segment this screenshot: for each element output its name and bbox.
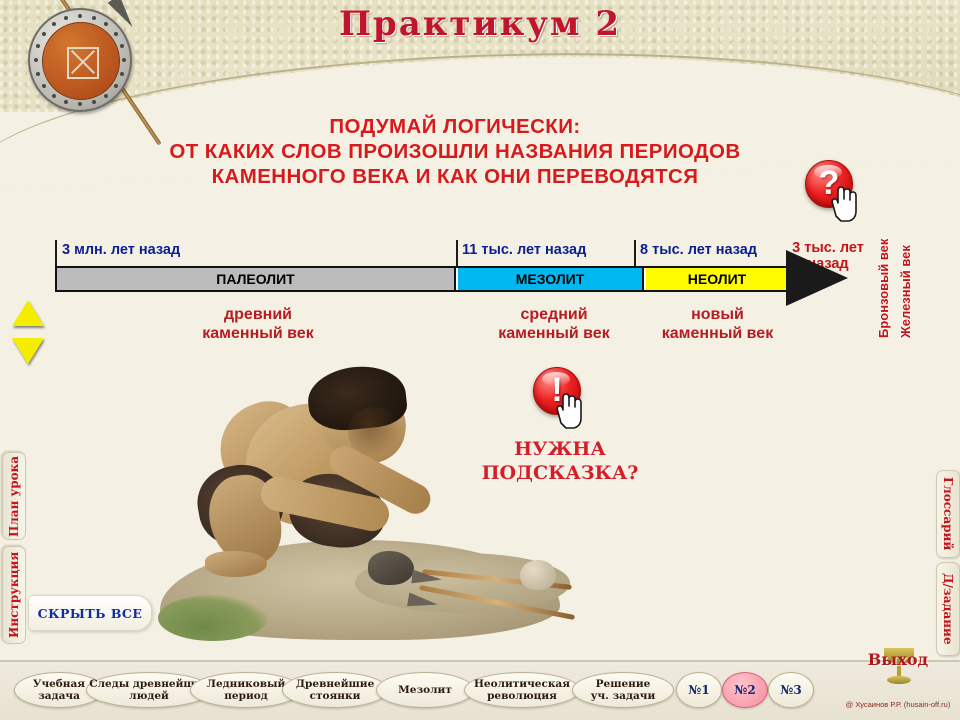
figure-foot bbox=[205, 551, 267, 577]
age-label-bronze: Бронзовый век bbox=[876, 228, 891, 338]
goblet-base bbox=[887, 676, 911, 684]
timeline-mark-2: 8 тыс. лет назад bbox=[640, 242, 757, 258]
nav-item-5-line2: революция bbox=[487, 690, 557, 702]
sidebar-tab-homework[interactable]: Д/задание bbox=[936, 562, 960, 656]
nav-item-0-line1: Учебная bbox=[33, 678, 85, 690]
nav-item-2-line1: Ледниковый bbox=[207, 678, 286, 690]
timeline-arrow-icon bbox=[786, 250, 848, 306]
nav-number-1[interactable]: №1 bbox=[676, 672, 722, 708]
sidebar-tab-instruction[interactable]: Инструкция bbox=[2, 546, 26, 644]
scroll-up-arrow[interactable] bbox=[12, 300, 44, 326]
hint-label: НУЖНА ПОДСКАЗКА? bbox=[455, 437, 665, 485]
timeline-mark-1: 11 тыс. лет назад bbox=[462, 242, 586, 258]
tick-0 bbox=[55, 240, 57, 266]
help-question-button[interactable]: ? bbox=[805, 160, 853, 208]
nav-item-5[interactable]: Неолитическая революция bbox=[464, 672, 580, 708]
translation-neolit-line1: новый bbox=[640, 305, 795, 324]
nav-item-4[interactable]: Мезолит bbox=[376, 672, 474, 708]
prehistoric-man-illustration bbox=[150, 355, 570, 655]
slide-canvas: Практикум 2 ПОДУМАЙ ЛОГИЧЕСКИ: ОТ КАКИХ … bbox=[0, 0, 960, 720]
hint-button[interactable]: ! bbox=[533, 367, 581, 415]
timeline-mark-0: 3 млн. лет назад bbox=[62, 242, 180, 258]
nav-item-5-line1: Неолитическая bbox=[474, 678, 570, 690]
nav-item-1-line2: людей bbox=[129, 690, 169, 702]
hint-line-1: НУЖНА bbox=[455, 437, 665, 461]
timeline-bar: ПАЛЕОЛИТ МЕЗОЛИТ НЕОЛИТ bbox=[55, 266, 788, 292]
tick-1 bbox=[456, 240, 458, 266]
question-line-1: ПОДУМАЙ ЛОГИЧЕСКИ: bbox=[60, 114, 850, 139]
tick-2 bbox=[634, 240, 636, 266]
shield-and-spear-decoration bbox=[8, 0, 178, 126]
nav-item-3-line1: Древнейшие bbox=[296, 678, 375, 690]
exclamation-icon: ! bbox=[534, 366, 580, 414]
question-line-2: ОТ КАКИХ СЛОВ ПРОИЗОШЛИ НАЗВАНИЯ ПЕРИОДО… bbox=[60, 139, 850, 164]
question-heading: ПОДУМАЙ ЛОГИЧЕСКИ: ОТ КАКИХ СЛОВ ПРОИЗОШ… bbox=[60, 114, 850, 189]
nav-item-6-line1: Решение bbox=[596, 678, 651, 690]
hint-line-2: ПОДСКАЗКА? bbox=[455, 461, 665, 485]
nav-item-4-line1: Мезолит bbox=[398, 684, 452, 696]
timeline-segment-paleolit[interactable]: ПАЛЕОЛИТ bbox=[57, 268, 456, 290]
spear-point-1 bbox=[411, 569, 442, 586]
timeline-segment-mezolit[interactable]: МЕЗОЛИТ bbox=[458, 268, 644, 290]
nav-item-0-line2: задача bbox=[38, 690, 80, 702]
question-line-3: КАМЕННОГО ВЕКА И КАК ОНИ ПЕРЕВОДЯТСЯ bbox=[60, 164, 850, 189]
exit-button[interactable]: Выход bbox=[852, 650, 944, 669]
hide-all-button[interactable]: СКРЫТЬ ВСЕ bbox=[28, 595, 152, 631]
translation-mezolit-line2: каменный век bbox=[474, 324, 634, 343]
age-label-iron: Железный век bbox=[898, 228, 913, 338]
skull-object bbox=[520, 560, 556, 590]
question-mark-icon: ? bbox=[806, 159, 852, 207]
nav-item-3[interactable]: Древнейшие стоянки bbox=[282, 672, 388, 708]
scroll-down-arrow[interactable] bbox=[12, 338, 44, 364]
nav-item-6[interactable]: Решение уч. задачи bbox=[572, 672, 674, 708]
sidebar-tab-glossary[interactable]: Глоссарий bbox=[936, 470, 960, 558]
translation-mezolit-line1: средний bbox=[474, 305, 634, 324]
timeline-segment-neolit[interactable]: НЕОЛИТ bbox=[646, 268, 788, 290]
nav-item-3-line2: стоянки bbox=[310, 690, 361, 702]
grass-tuft bbox=[158, 595, 268, 641]
translation-neolit-line2: каменный век bbox=[640, 324, 795, 343]
nav-number-3[interactable]: №3 bbox=[768, 672, 814, 708]
translation-paleolit-line1: древний bbox=[168, 305, 348, 324]
nav-item-6-line2: уч. задачи bbox=[591, 690, 656, 702]
shield-rivets bbox=[30, 10, 130, 110]
nav-item-2-line2: период bbox=[224, 690, 268, 702]
sidebar-tab-lesson-plan[interactable]: План урока bbox=[2, 452, 26, 540]
shield-icon bbox=[28, 8, 132, 112]
translation-paleolit-line2: каменный век bbox=[168, 324, 348, 343]
stone-tool bbox=[368, 551, 414, 585]
nav-number-2[interactable]: №2 bbox=[722, 672, 768, 708]
copyright-text: @ Хусаинов Р.Р. (husain-off.ru) bbox=[838, 700, 958, 709]
